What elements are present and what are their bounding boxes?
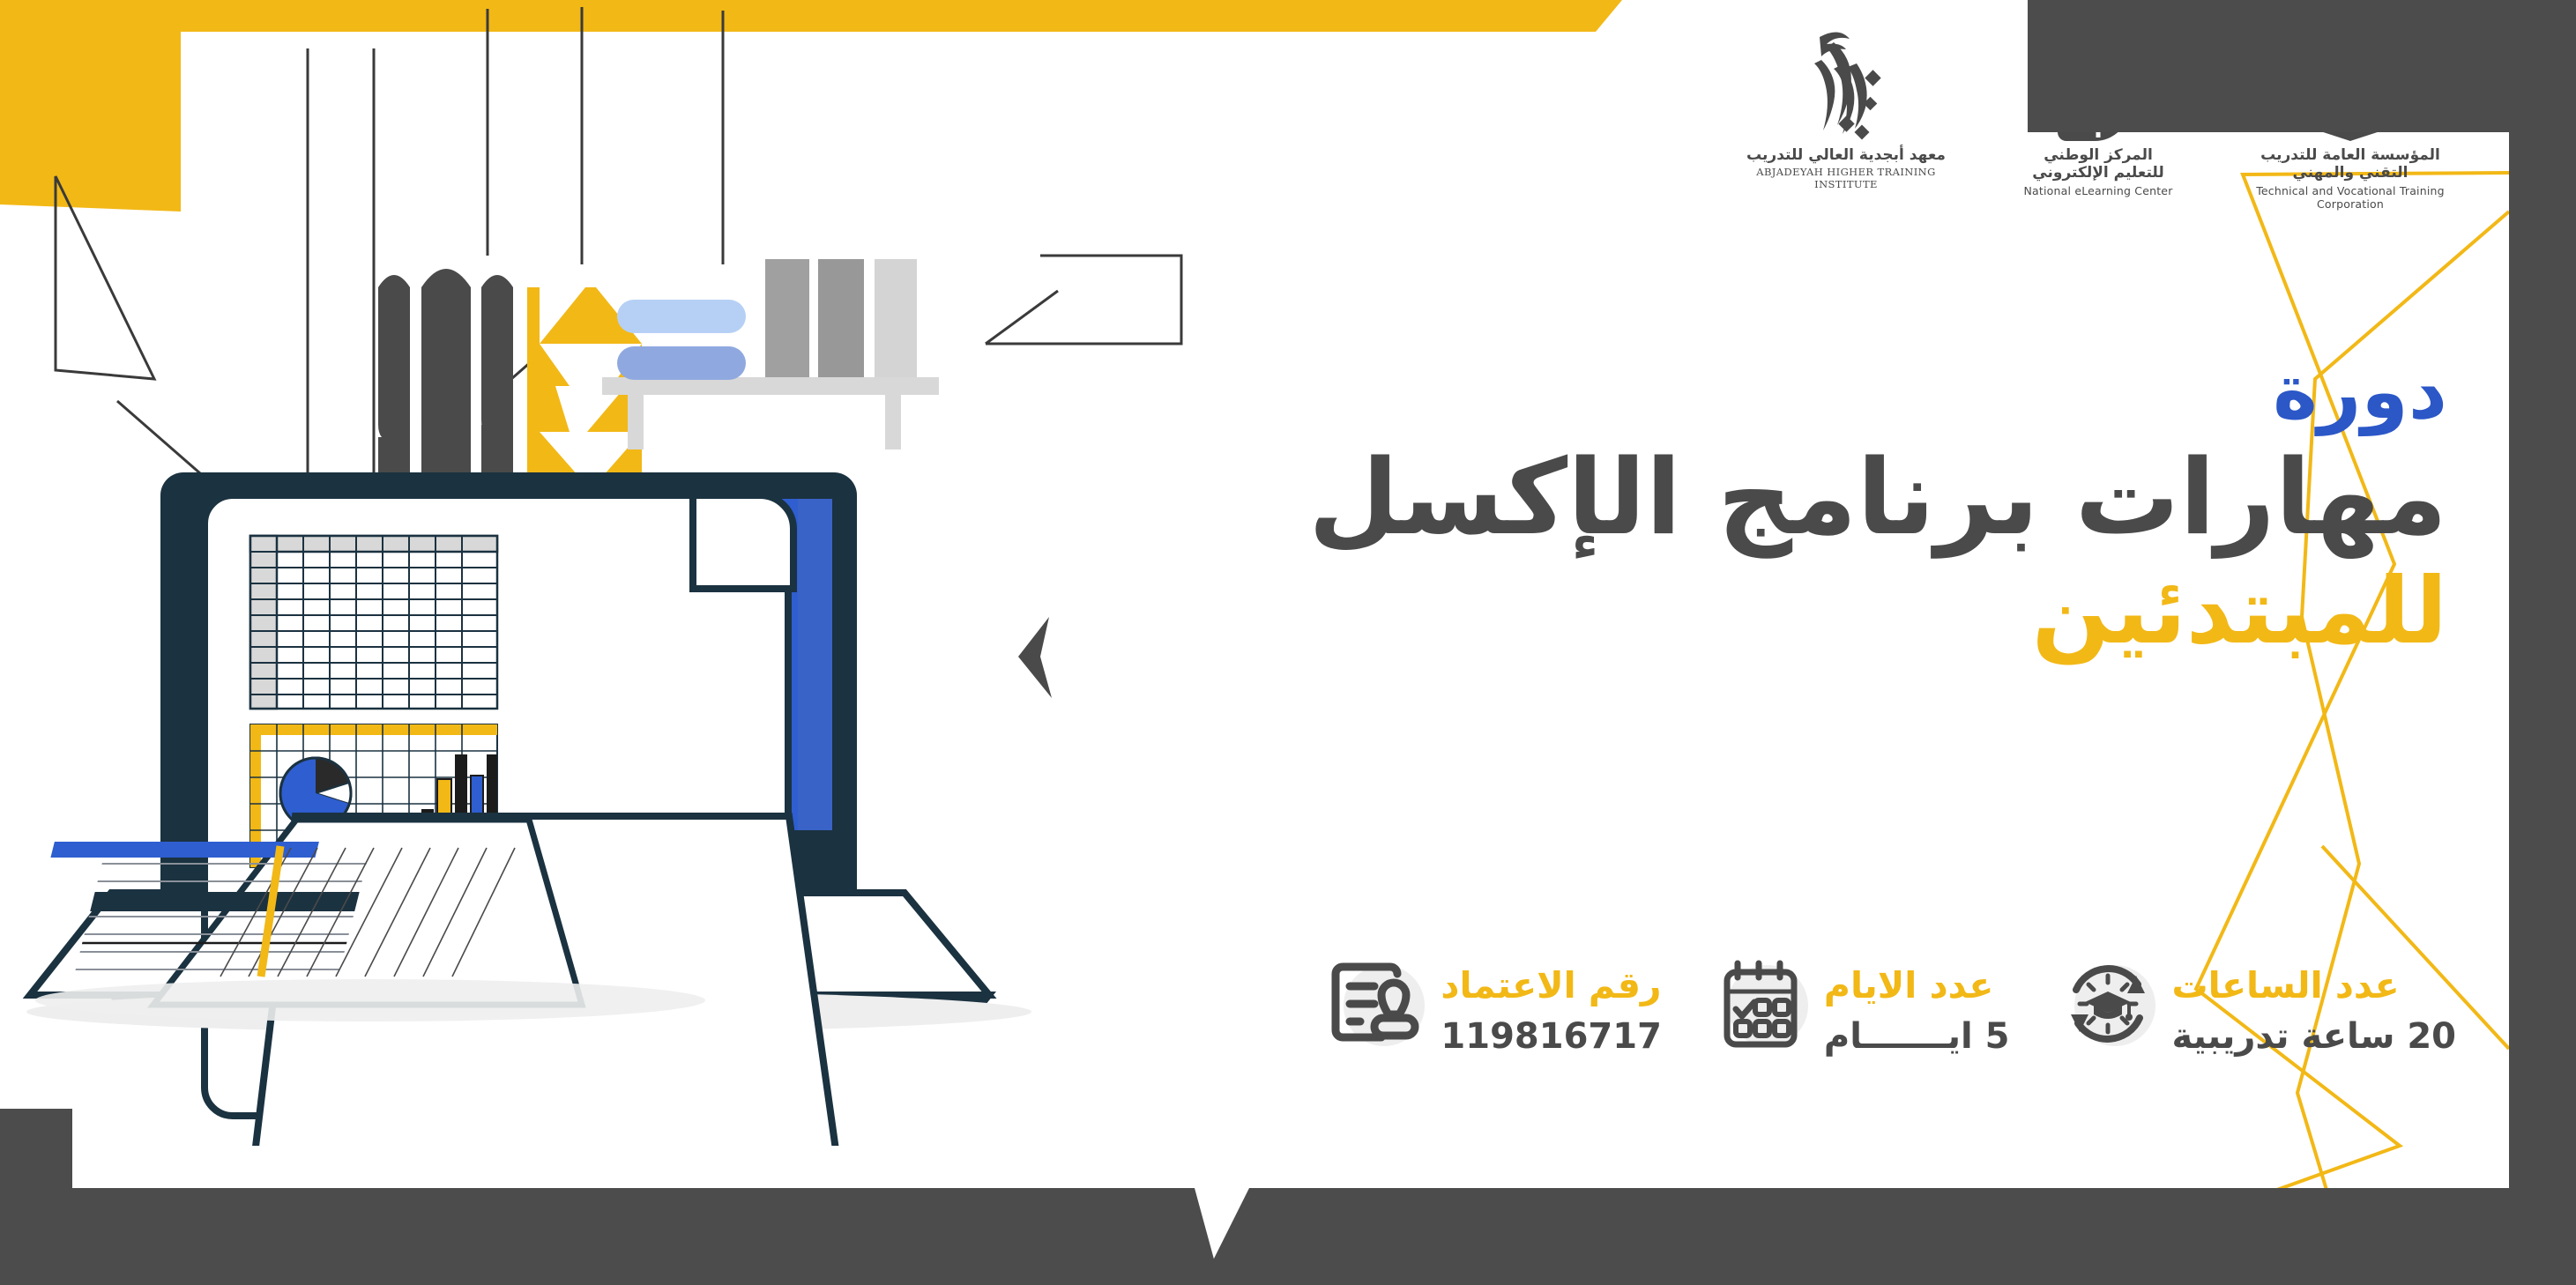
frame-right-edge	[2509, 0, 2576, 1285]
tvtc-logo-english: Technical and Vocational Training Corpor…	[2245, 184, 2456, 211]
content-column: المؤسسة العامة للتدريب التقني والمهني Te…	[1134, 0, 2509, 1285]
course-banner: المؤسسة العامة للتدريب التقني والمهني Te…	[0, 0, 2576, 1285]
accreditation-info-label: رقم الاعتماد	[1441, 965, 1661, 1006]
abjadeyah-higher-training-institute-logo: معهد أبجدية العالي للتدريب ABJADEYAH HIG…	[1740, 35, 1952, 191]
course-subtitle: للمبتدئين	[1213, 561, 2447, 661]
accreditation-info-text: رقم الاعتماد 119816717	[1441, 953, 1662, 1058]
accreditation-info: رقم الاعتماد 119816717	[1326, 953, 1662, 1058]
title-block: دورة مهارات برنامج الإكسل للمبتدئين	[1213, 354, 2447, 662]
hours-info-value: 20 ساعة تدريبية	[2171, 1015, 2456, 1058]
tvtc-logo-arabic: المؤسسة العامة للتدريب التقني والمهني	[2245, 146, 2456, 182]
nelc-logo-arabic: المركز الوطني للتعليم الإلكتروني	[2032, 146, 2163, 182]
page-title: مهارات برنامج الإكسل	[1213, 439, 2447, 555]
abjadeyah-logo-arabic: معهد أبجدية العالي للتدريب	[1746, 146, 1946, 164]
frame-bottom-right	[1201, 1188, 2576, 1285]
abjadeyah-logo-english: ABJADEYAH HIGHER TRAINING INSTITUTE	[1740, 167, 1952, 191]
nelc-logo-english: National eLearning Center	[2023, 184, 2172, 197]
clock-graduation-icon	[2057, 953, 2159, 1055]
days-info-label: عدد الايام	[1824, 965, 1993, 1006]
hours-info: عدد الساعات 20 ساعة تدريبية	[2057, 953, 2456, 1058]
hours-info-text: عدد الساعات 20 ساعة تدريبية	[2171, 953, 2456, 1058]
certificate-stamp-icon	[1326, 953, 1428, 1055]
calendar-check-icon	[1709, 953, 1812, 1055]
course-kicker: دورة	[1213, 354, 2447, 430]
excel-workspace-illustration	[0, 0, 1287, 1146]
days-info: عدد الايام 5 ايـــــــام	[1709, 953, 2010, 1058]
frame-top-right	[2028, 0, 2576, 132]
hours-info-label: عدد الساعات	[2171, 965, 2399, 1006]
course-info-strip: عدد الساعات 20 ساعة تدريبية	[1326, 953, 2456, 1058]
calligraphy-flame-mark	[1802, 35, 1890, 141]
days-info-text: عدد الايام 5 ايـــــــام	[1824, 953, 2010, 1058]
accreditation-info-value: 119816717	[1441, 1015, 1662, 1058]
days-info-value: 5 ايـــــــام	[1824, 1015, 2010, 1058]
